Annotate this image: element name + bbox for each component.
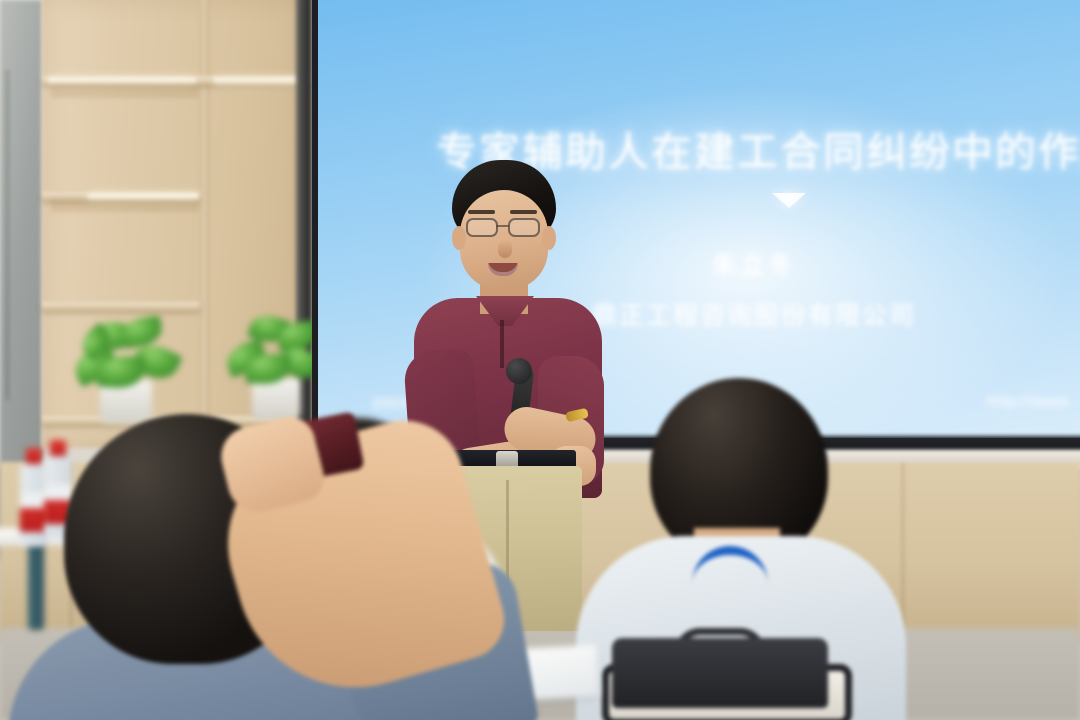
shelf-shadow (51, 84, 199, 98)
audience-member-right (588, 378, 948, 720)
black-bag (612, 638, 828, 708)
eyeglasses-bridge (496, 225, 509, 227)
microphone-head (506, 358, 532, 384)
shelf-vertical-divider (200, 0, 209, 448)
shelf-led-strip (88, 194, 198, 199)
slide-url: http://www. (986, 393, 1072, 410)
presenter-nose (498, 240, 512, 258)
presentation-photo-scene: 专家辅助人在建工合同纠纷中的作用 朱立冬 鼎正工程咨询股份有限公司 2023.4… (0, 0, 1080, 720)
triangle-down-icon (772, 193, 806, 208)
presenter-eyebrow (510, 210, 537, 214)
eyeglasses-icon (508, 218, 540, 237)
presenter-ear (452, 226, 466, 250)
presenter-shirt-placket (500, 320, 504, 368)
audience-member-left-photographer (28, 400, 548, 720)
presenter-ear (542, 226, 556, 250)
shelf-board (42, 302, 200, 311)
shelf-led-strip (214, 78, 304, 83)
presenter-eyebrow (468, 210, 495, 214)
shelf-shadow (51, 200, 199, 212)
eyeglasses-icon (466, 218, 498, 237)
plant-leaf (120, 315, 164, 348)
shelf-led-strip (48, 78, 196, 83)
